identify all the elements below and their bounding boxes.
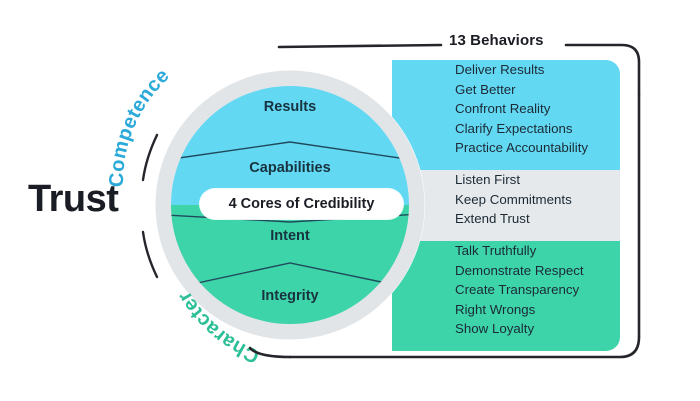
- bracket-top-left: [279, 45, 441, 47]
- trust-brace-upper: [143, 135, 157, 180]
- core-label-integrity: Integrity: [214, 288, 366, 304]
- core-label-capabilities: Capabilities: [214, 160, 366, 176]
- core-label-results: Results: [214, 99, 366, 115]
- diagram-canvas: Deliver Results Get Better Confront Real…: [0, 0, 700, 401]
- behaviors-header: 13 Behaviors: [449, 32, 544, 49]
- page-title: Trust: [28, 180, 118, 218]
- center-pill: 4 Cores of Credibility: [200, 189, 403, 219]
- bracket-bottom: [290, 337, 639, 357]
- trust-brace-lower: [143, 232, 157, 277]
- center-pill-label: 4 Cores of Credibility: [229, 196, 375, 212]
- bracket-top-right: [566, 45, 639, 95]
- core-label-intent: Intent: [214, 228, 366, 244]
